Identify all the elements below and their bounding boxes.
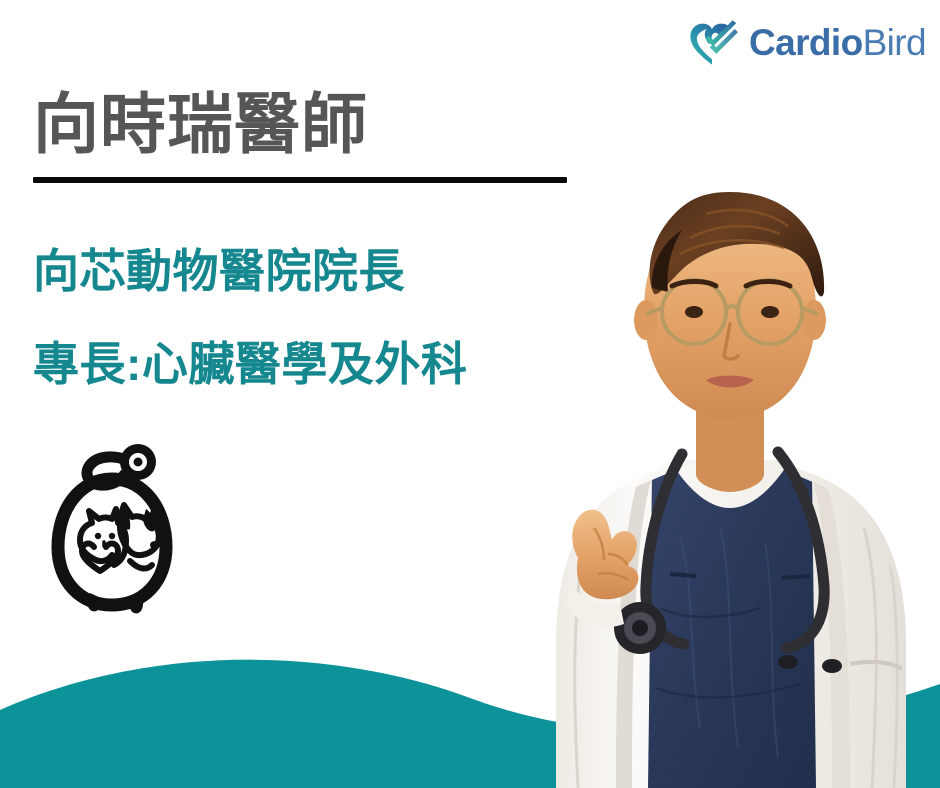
brand-name-bold: Cardio	[749, 24, 863, 61]
credential-line-specialty: 專長:心臟醫學及外科	[33, 339, 593, 390]
neck	[696, 406, 764, 492]
navy-scrubs	[648, 460, 816, 788]
credentials-block: 向芯動物醫院院長 專長:心臟醫學及外科	[33, 246, 593, 389]
brand-wordmark: CardioBird	[749, 24, 926, 61]
doctor-photo	[520, 88, 940, 788]
brand-name-light: Bird	[863, 24, 926, 61]
credential-line-position: 向芯動物醫院院長	[33, 246, 593, 297]
doctor-profile-card: CardioBird 向時瑞醫師 向芯動物醫院院長 專長:心臟醫學及外科	[0, 0, 940, 788]
title-divider	[33, 177, 567, 183]
heart-shield-check-icon	[685, 15, 739, 69]
brand-logo: CardioBird	[685, 14, 926, 70]
stethoscope-cat-dog-clinic-icon	[42, 435, 182, 620]
headline-block: 向時瑞醫師	[33, 88, 593, 183]
page-title: 向時瑞醫師	[33, 88, 593, 162]
